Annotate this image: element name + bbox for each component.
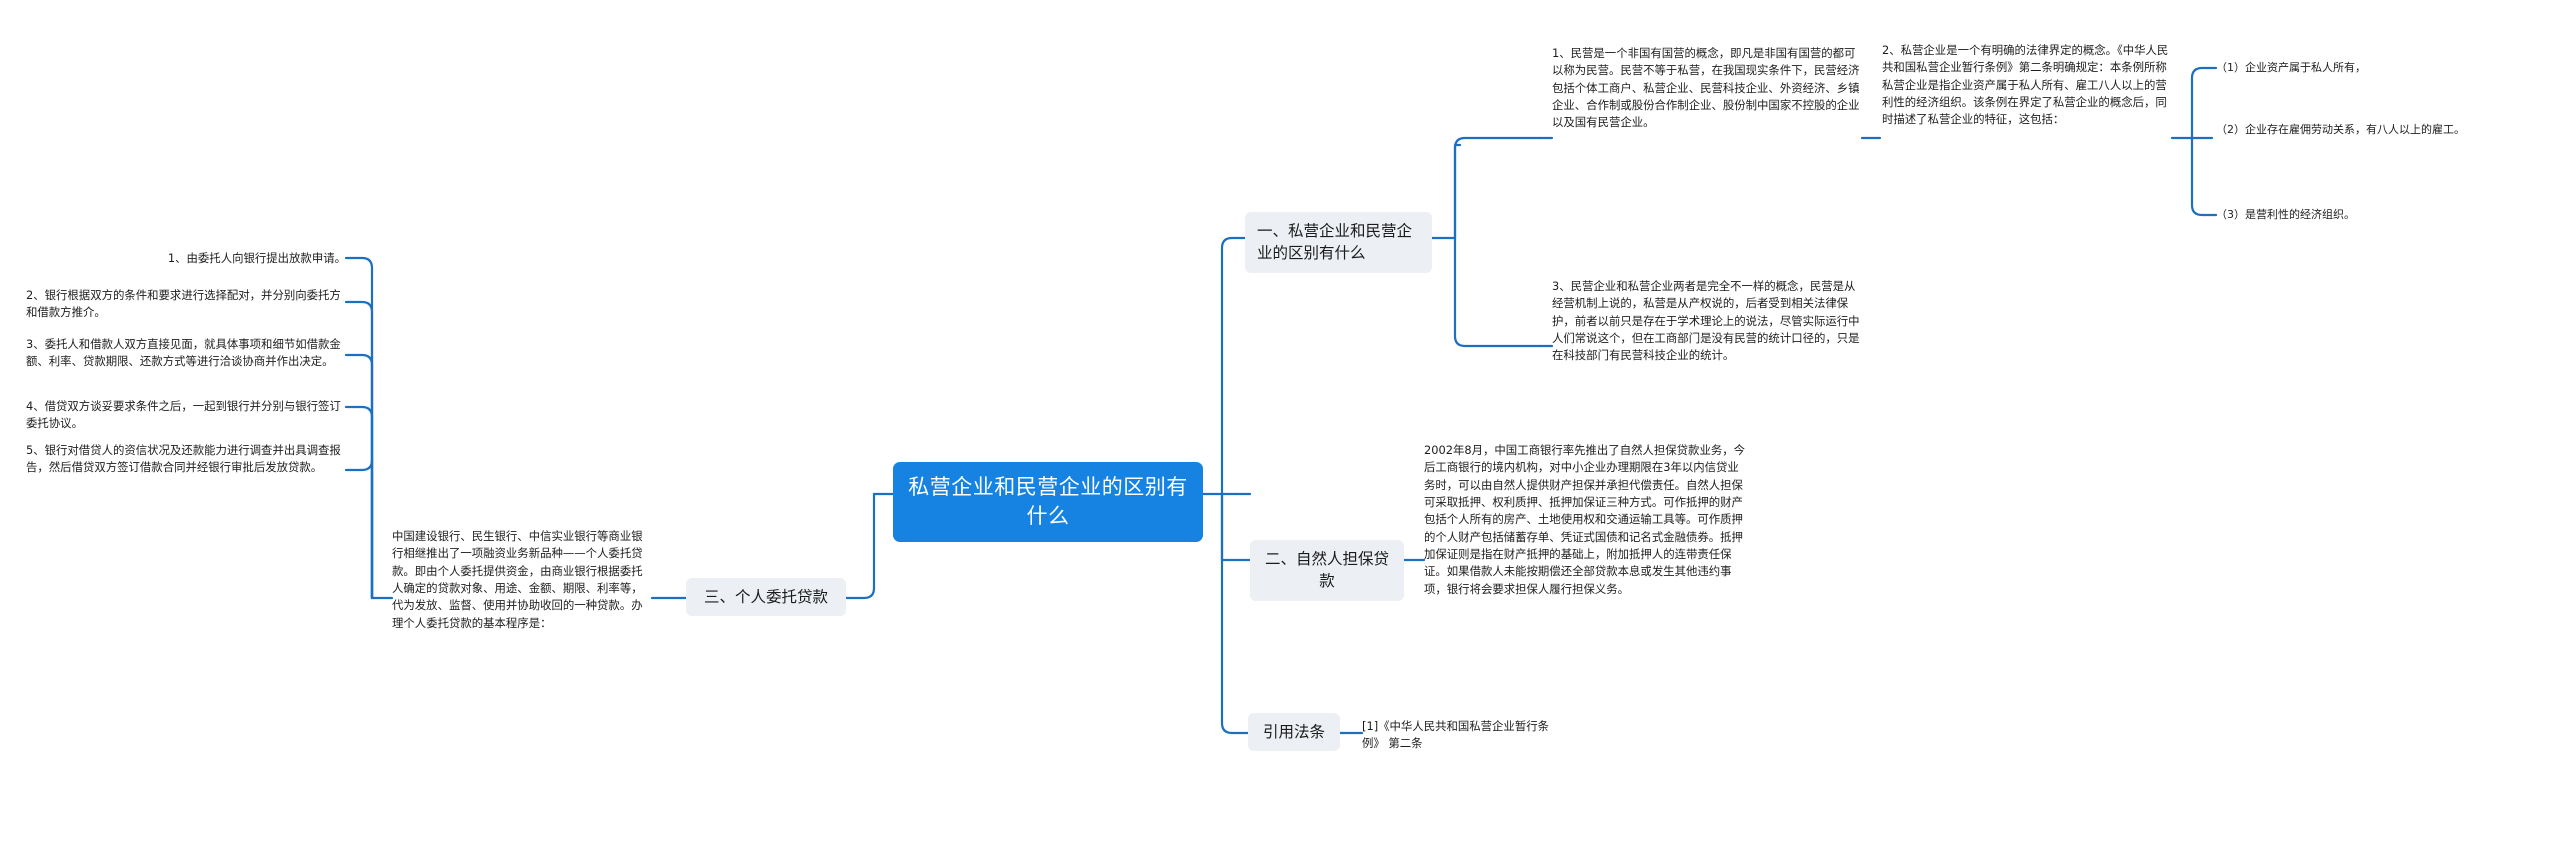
leaf-personal-entrusted-loan-detail[interactable]: 中国建设银行、民生银行、中信实业银行等商业银行相继推出了一项融资业务新品种——个… — [392, 528, 652, 632]
leaf-entrusted-loan-step-4[interactable]: 4、借贷双方谈妥要求条件之后，一起到银行并分别与银行签订委托协议。 — [26, 398, 346, 433]
leaf-entrusted-loan-step-3[interactable]: 3、委托人和借款人双方直接见面，就具体事项和细节如借款金额、利率、贷款期限、还款… — [26, 336, 346, 371]
leaf-difference-point-2[interactable]: 2、私营企业是一个有明确的法律界定的概念。《中华人民共和国私营企业暂行条例》第二… — [1882, 42, 2172, 129]
branch-node-natural-person-guarantee-loan[interactable]: 二、自然人担保贷款 — [1250, 540, 1404, 601]
leaf-entrusted-loan-step-2[interactable]: 2、银行根据双方的条件和要求进行选择配对，并分别向委托方和借款方推介。 — [26, 287, 346, 322]
leaf-difference-point-1[interactable]: 1、民营是一个非国有国营的概念，即凡是非国有国营的都可以称为民营。民营不等于私营… — [1552, 45, 1864, 132]
leaf-private-enterprise-feature-3[interactable]: （3）是营利性的经济组织。 — [2216, 207, 2516, 224]
root-node[interactable]: 私营企业和民营企业的区别有什么 — [893, 462, 1203, 542]
leaf-natural-person-guarantee-loan-detail[interactable]: 2002年8月，中国工商银行率先推出了自然人担保贷款业务，今后工商银行的境内机构… — [1424, 442, 1750, 598]
leaf-difference-point-3[interactable]: 3、民营企业和私营企业两者是完全不一样的概念，民营是从经营机制上说的，私营是从产… — [1552, 278, 1864, 365]
branch-node-differences[interactable]: 一、私营企业和民营企业的区别有什么 — [1245, 212, 1432, 273]
leaf-private-enterprise-feature-2[interactable]: （2）企业存在雇佣劳动关系，有八人以上的雇工。 — [2216, 122, 2516, 139]
branch-node-personal-entrusted-loan[interactable]: 三、个人委托贷款 — [686, 578, 846, 616]
leaf-entrusted-loan-step-1[interactable]: 1、由委托人向银行提出放款申请。 — [46, 250, 346, 267]
leaf-cited-statute-detail[interactable]: [1]《中华人民共和国私营企业暂行条例》 第二条 — [1362, 718, 1558, 753]
leaf-private-enterprise-feature-1[interactable]: （1）企业资产属于私人所有， — [2216, 60, 2516, 77]
leaf-entrusted-loan-step-5[interactable]: 5、银行对借贷人的资信状况及还款能力进行调查并出具调查报告，然后借贷双方签订借款… — [26, 442, 346, 477]
branch-node-cited-statutes[interactable]: 引用法条 — [1248, 713, 1340, 751]
mindmap-canvas: 私营企业和民营企业的区别有什么 一、私营企业和民营企业的区别有什么 二、自然人担… — [0, 0, 2560, 863]
